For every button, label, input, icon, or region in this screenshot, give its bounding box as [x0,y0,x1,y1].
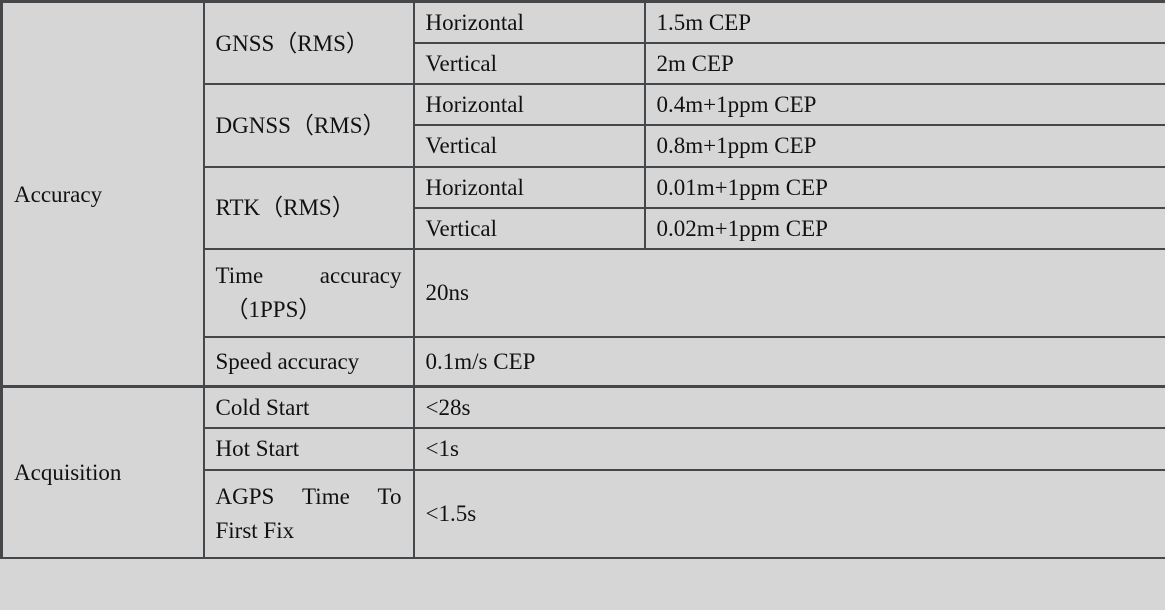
group-label-agps-ttff-line1: AGPS Time To [216,480,402,513]
table-row: Acquisition Cold Start <28s [2,387,1165,429]
group-label-agps-ttff: AGPS Time To First Fix [204,470,414,558]
value-gnss-vertical: 2m CEP [645,43,1165,84]
value-speed-accuracy: 0.1m/s CEP [414,337,1165,387]
group-label-hot-start: Hot Start [204,428,414,469]
group-label-gnss: GNSS（RMS） [204,2,414,85]
section-label-accuracy: Accuracy [2,2,204,387]
group-label-time-accuracy-line1: Time accuracy [216,259,402,292]
value-gnss-horizontal: 1.5m CEP [645,2,1165,44]
group-label-speed-accuracy: Speed accuracy [204,337,414,387]
group-label-rtk: RTK（RMS） [204,167,414,249]
group-label-cold-start: Cold Start [204,387,414,429]
group-label-agps-ttff-line2: First Fix [216,514,402,547]
axis-label-vertical: Vertical [414,125,645,166]
value-dgnss-horizontal: 0.4m+1ppm CEP [645,84,1165,125]
group-label-dgnss: DGNSS（RMS） [204,84,414,166]
group-label-time-accuracy: Time accuracy （1PPS） [204,249,414,337]
axis-label-horizontal: Horizontal [414,167,645,208]
axis-label-horizontal: Horizontal [414,2,645,44]
section-label-acquisition: Acquisition [2,387,204,558]
value-time-accuracy: 20ns [414,249,1165,337]
value-cold-start: <28s [414,387,1165,429]
value-rtk-vertical: 0.02m+1ppm CEP [645,208,1165,249]
group-label-time-accuracy-line2: （1PPS） [216,293,402,326]
table-row: Accuracy GNSS（RMS） Horizontal 1.5m CEP [2,2,1165,44]
axis-label-vertical: Vertical [414,208,645,249]
value-dgnss-vertical: 0.8m+1ppm CEP [645,125,1165,166]
axis-label-vertical: Vertical [414,43,645,84]
value-hot-start: <1s [414,428,1165,469]
value-agps-ttff: <1.5s [414,470,1165,558]
value-rtk-horizontal: 0.01m+1ppm CEP [645,167,1165,208]
axis-label-horizontal: Horizontal [414,84,645,125]
specifications-table: Accuracy GNSS（RMS） Horizontal 1.5m CEP V… [0,0,1165,559]
